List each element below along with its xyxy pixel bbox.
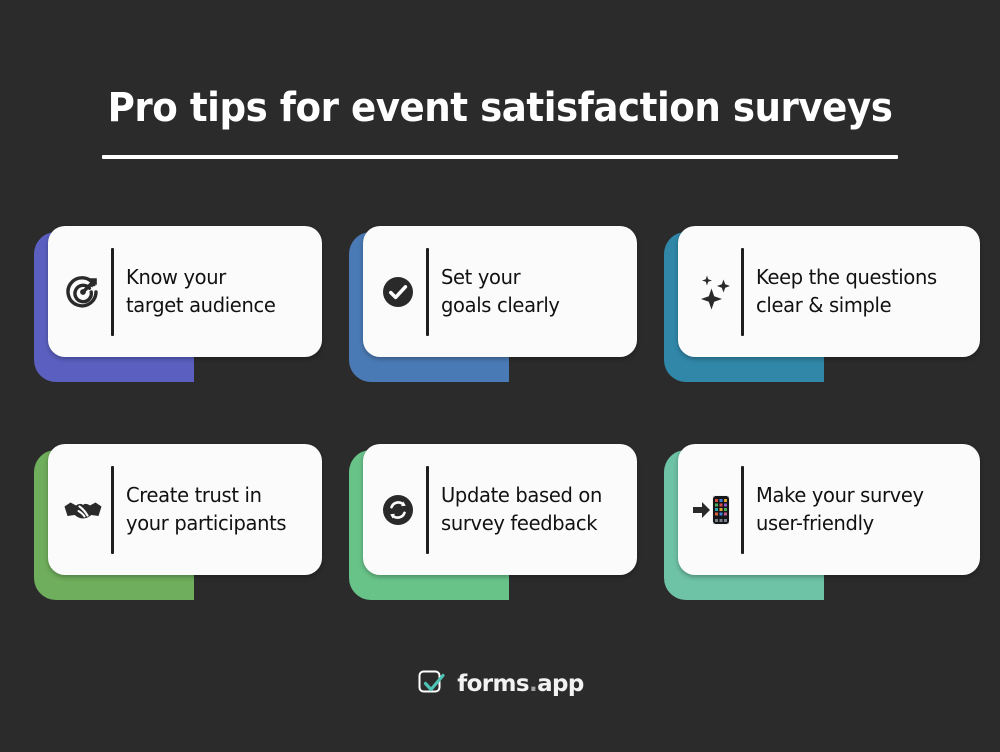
header: Pro tips for event satisfaction surveys: [0, 0, 1000, 159]
title-divider-rule: [102, 155, 898, 159]
footer-brand[interactable]: forms.app: [0, 668, 1000, 700]
target-arrow-icon: [57, 266, 109, 318]
card-label: Create trust in your participants: [126, 482, 286, 538]
refresh-circle-icon: [372, 484, 424, 536]
card-panel: Set your goals clearly: [363, 226, 637, 357]
card-panel: Make your survey user-friendly: [678, 444, 980, 575]
page-title: Pro tips for event satisfaction surveys: [35, 86, 965, 131]
card-panel: Keep the questions clear & simple: [678, 226, 980, 357]
card-divider: [741, 466, 744, 554]
card-divider: [111, 466, 114, 554]
brand-wordmark: forms.app: [457, 671, 584, 697]
card-label: Set your goals clearly: [441, 264, 560, 320]
card-label: Know your target audience: [126, 264, 275, 320]
card-divider: [426, 466, 429, 554]
card-divider: [111, 248, 114, 336]
card-panel: Know your target audience: [48, 226, 322, 357]
card-divider: [426, 248, 429, 336]
sparkles-icon: [687, 266, 739, 318]
tip-card-update-based-on-survey-feedback[interactable]: Update based on survey feedback: [349, 450, 637, 600]
arrow-to-mobile-icon: [687, 484, 739, 536]
card-panel: Create trust in your participants: [48, 444, 322, 575]
circle-check-icon: [372, 266, 424, 318]
tips-card-grid: Know your target audience Set your goals…: [34, 232, 966, 600]
card-divider: [741, 248, 744, 336]
tip-card-create-trust-in-your-participants[interactable]: Create trust in your participants: [34, 450, 322, 600]
card-panel: Update based on survey feedback: [363, 444, 637, 575]
brand-separator: .: [529, 671, 537, 697]
tip-card-make-your-survey-user-friendly[interactable]: Make your survey user-friendly: [664, 450, 952, 600]
card-label: Update based on survey feedback: [441, 482, 602, 538]
forms-app-check-logo: [416, 668, 448, 700]
card-label: Make your survey user-friendly: [756, 482, 924, 538]
brand-name: forms: [457, 671, 529, 697]
card-label: Keep the questions clear & simple: [756, 264, 937, 320]
tip-card-set-your-goals-clearly[interactable]: Set your goals clearly: [349, 232, 637, 382]
brand-suffix: app: [537, 671, 584, 697]
tip-card-know-your-target-audience[interactable]: Know your target audience: [34, 232, 322, 382]
handshake-icon: [57, 484, 109, 536]
tip-card-keep-the-questions-clear-and-simple[interactable]: Keep the questions clear & simple: [664, 232, 952, 382]
